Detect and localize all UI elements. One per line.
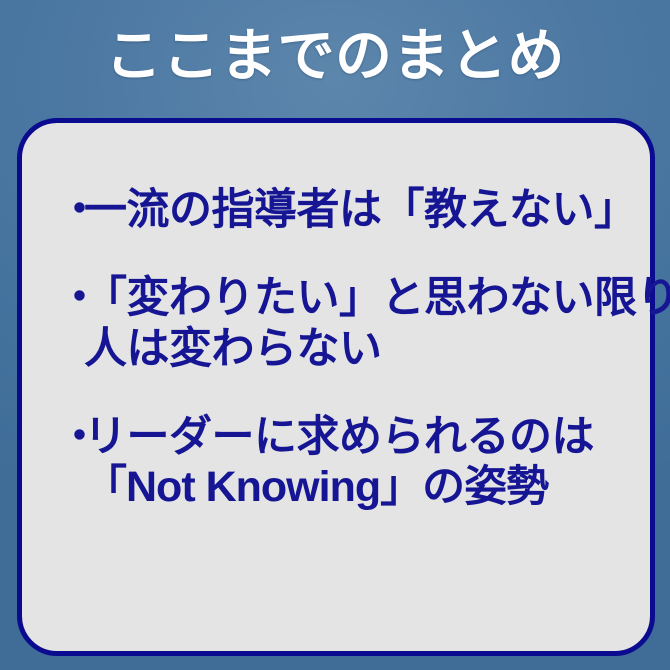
bullet-text: 「変わりたい」と思わない限り、 — [84, 273, 670, 323]
slide-title-bar: ここまでのまとめ — [0, 14, 670, 98]
list-item: ・ 「変わりたい」と思わない限り、 ・ 人は変わらない — [58, 273, 632, 374]
bullet-text: 人は変わらない — [84, 324, 382, 374]
bullet-line: ・ 「変わりたい」と思わない限り、 — [58, 273, 632, 323]
bullet-dot-icon: ・ — [58, 412, 84, 462]
list-item: ・ 一流の指導者は「教えない」 — [58, 185, 632, 235]
summary-card: ・ 一流の指導者は「教えない」 ・ 「変わりたい」と思わない限り、 ・ 人は変わ… — [17, 118, 655, 656]
bullet-line: ・ 人は変わらない — [58, 324, 632, 374]
bullet-line: ・ リーダーに求められるのは — [58, 412, 632, 462]
bullet-line: ・ 「Not Knowing」の姿勢 — [58, 462, 632, 512]
summary-slide: ここまでのまとめ ・ 一流の指導者は「教えない」 ・ 「変わりたい」と思わない限… — [0, 0, 670, 670]
page-title: ここまでのまとめ — [105, 28, 565, 85]
bullet-text: 「Not Knowing」の姿勢 — [84, 462, 548, 512]
list-item: ・ リーダーに求められるのは ・ 「Not Knowing」の姿勢 — [58, 412, 632, 513]
bullet-dot-icon: ・ — [58, 273, 84, 323]
bullet-dot-icon: ・ — [58, 185, 84, 235]
bullet-list: ・ 一流の指導者は「教えない」 ・ 「変わりたい」と思わない限り、 ・ 人は変わ… — [58, 185, 632, 512]
bullet-line: ・ 一流の指導者は「教えない」 — [58, 185, 632, 235]
bullet-text: リーダーに求められるのは — [84, 412, 594, 462]
bullet-text: 一流の指導者は「教えない」 — [84, 185, 637, 235]
